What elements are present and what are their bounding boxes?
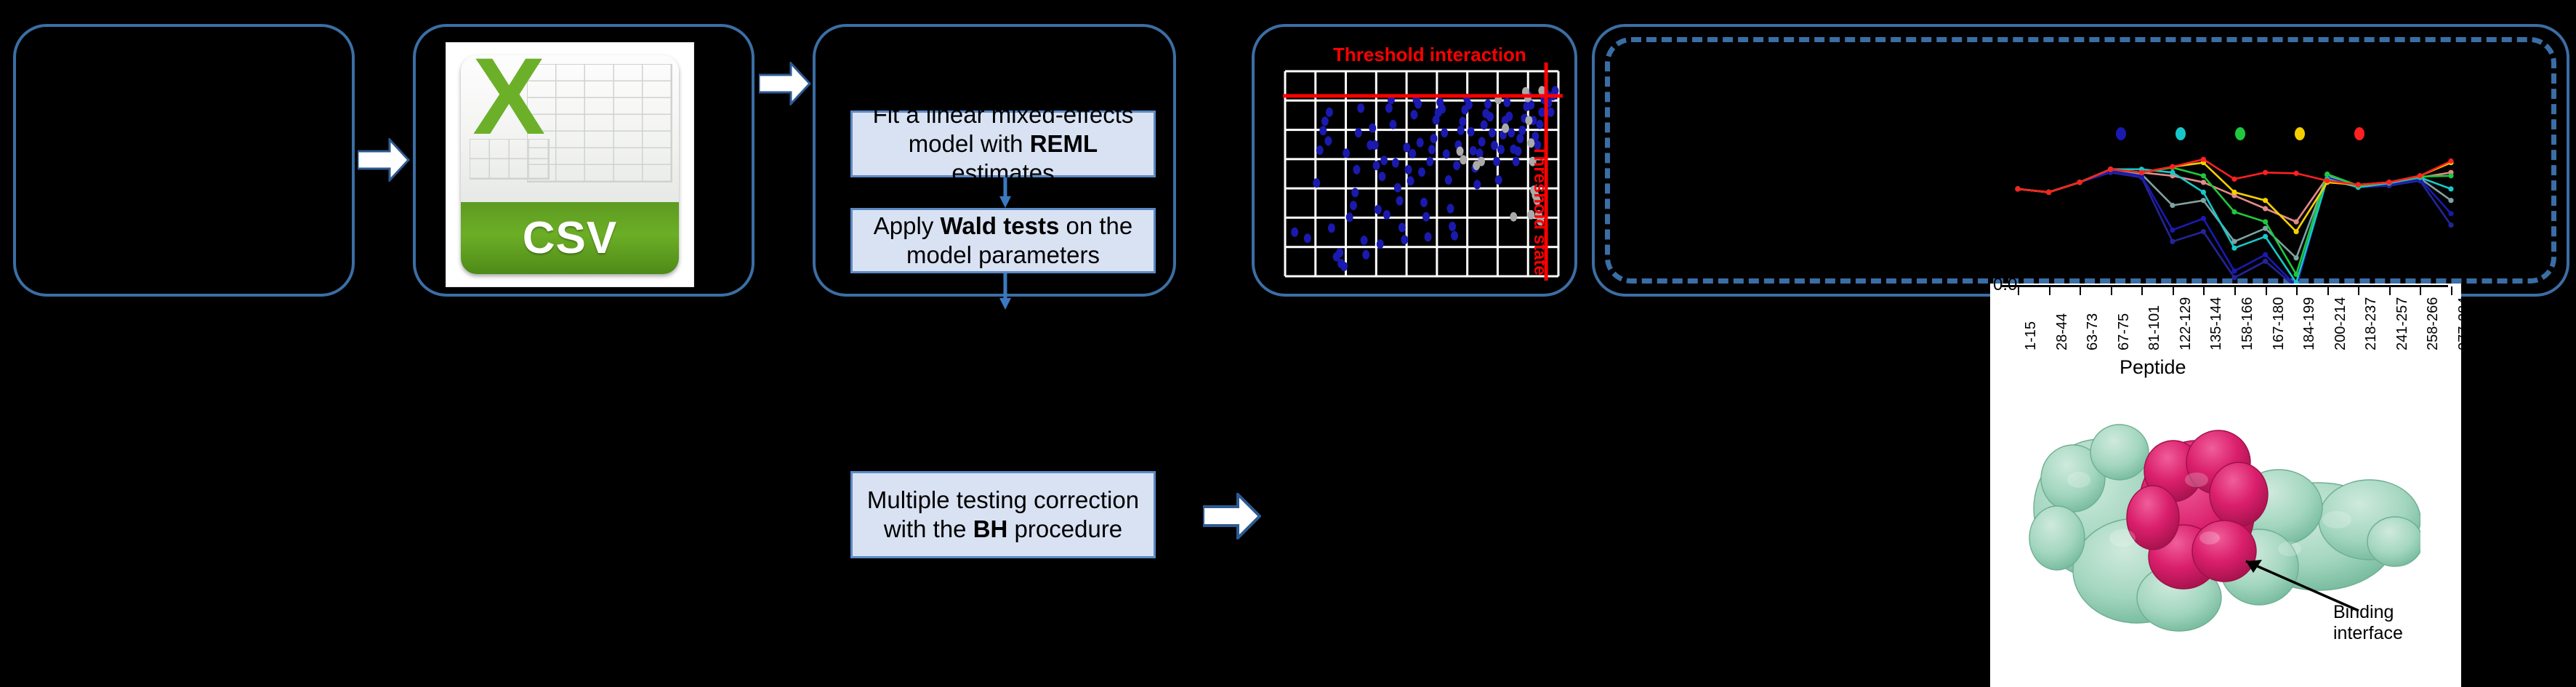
peptide-axis-tick xyxy=(2327,286,2329,295)
peptide-tick-label: 200-214 xyxy=(2333,297,2349,350)
peptide-tick-label: 122-129 xyxy=(2178,297,2194,350)
peptide-line-chart xyxy=(2005,116,2455,294)
csv-file-icon: X CSV xyxy=(446,43,693,286)
peptide-tick-label: 184-199 xyxy=(2301,297,2318,350)
arrow-csv-to-analysis xyxy=(759,62,811,105)
peptide-tick-label: 218-237 xyxy=(2363,297,2380,350)
peptide-axis-tick xyxy=(2389,286,2391,295)
peptide-tick-label: 241-257 xyxy=(2394,297,2411,350)
peptide-axis-tick xyxy=(2173,286,2174,295)
process-box-wald: Apply Wald tests on the model parameters xyxy=(850,208,1156,273)
peptide-axis-tick xyxy=(2018,286,2019,295)
bh-text-post: procedure xyxy=(1007,515,1122,542)
peptide-tick-label: 28-44 xyxy=(2054,313,2071,350)
peptide-tick-label: 1-15 xyxy=(2023,321,2040,350)
input-panel xyxy=(13,24,355,297)
arrow-analysis-to-results xyxy=(1203,493,1261,539)
threshold-scatter-plot: Threshold interaction Threshold state xyxy=(1265,36,1564,284)
peptide-axis-tick xyxy=(2358,286,2359,295)
reml-text-bold: REML xyxy=(1030,130,1098,157)
peptide-axis-line xyxy=(2000,285,2448,287)
peptide-axis-tick xyxy=(2203,286,2205,295)
peptide-axis-tick xyxy=(2049,286,2050,295)
peptide-tick-label: 258-266 xyxy=(2425,297,2442,350)
excel-x-letter: X xyxy=(470,58,548,134)
peptide-tick-label: 63-73 xyxy=(2085,313,2101,350)
peptide-axis-tick xyxy=(2266,286,2267,295)
peptide-axis-tick xyxy=(2080,286,2081,295)
csv-label-band: CSV xyxy=(461,202,678,274)
peptide-axis-tick xyxy=(2420,286,2421,295)
peptide-tick-label: 277-284 xyxy=(2456,297,2473,350)
structure-white-card: 1-1528-4463-7367-7581-101122-129135-1441… xyxy=(1990,284,2461,687)
scatter-svg xyxy=(1265,36,1564,284)
csv-sheet: X xyxy=(461,55,678,202)
process-box-reml: Fit a linear mixed-effects model with RE… xyxy=(850,111,1156,177)
peptide-tick-label: 81-101 xyxy=(2146,305,2163,350)
connector-wald-to-bh xyxy=(999,273,1012,310)
peptide-axis-label: Peptide xyxy=(2120,356,2186,379)
wald-text-bold: Wald tests xyxy=(940,212,1059,239)
wald-text-pre: Apply xyxy=(874,212,941,239)
peptide-tick-label: 167-180 xyxy=(2271,297,2287,350)
peptide-line-chart-svg xyxy=(2005,116,2455,294)
peptide-tick-label: 158-166 xyxy=(2239,297,2256,350)
peptide-axis-tick xyxy=(2296,286,2298,295)
connector-reml-to-wald xyxy=(999,177,1012,208)
protein-structure-image xyxy=(2028,393,2420,632)
peptide-axis-tick xyxy=(2234,286,2236,295)
threshold-state-label: Threshold state xyxy=(1529,145,1550,276)
csv-label: CSV xyxy=(523,212,617,264)
peptide-axis-tick xyxy=(2451,286,2452,295)
csv-card: X CSV xyxy=(461,55,678,275)
process-box-bh: Multiple testing correction with the BH … xyxy=(850,471,1156,558)
peptide-tick-label: 67-75 xyxy=(2116,313,2133,350)
csv-panel: X CSV xyxy=(413,24,754,297)
peptide-axis-tick xyxy=(2141,286,2143,295)
bh-text-bold: BH xyxy=(973,515,1008,542)
binding-interface-annotation: Binding interface xyxy=(2333,602,2403,644)
peptide-axis-tick xyxy=(2111,286,2112,295)
peptide-tick-label: 135-144 xyxy=(2208,297,2225,350)
y-axis-zero-value: 0.0 xyxy=(1993,275,2017,295)
arrow-input-to-csv xyxy=(358,138,410,182)
